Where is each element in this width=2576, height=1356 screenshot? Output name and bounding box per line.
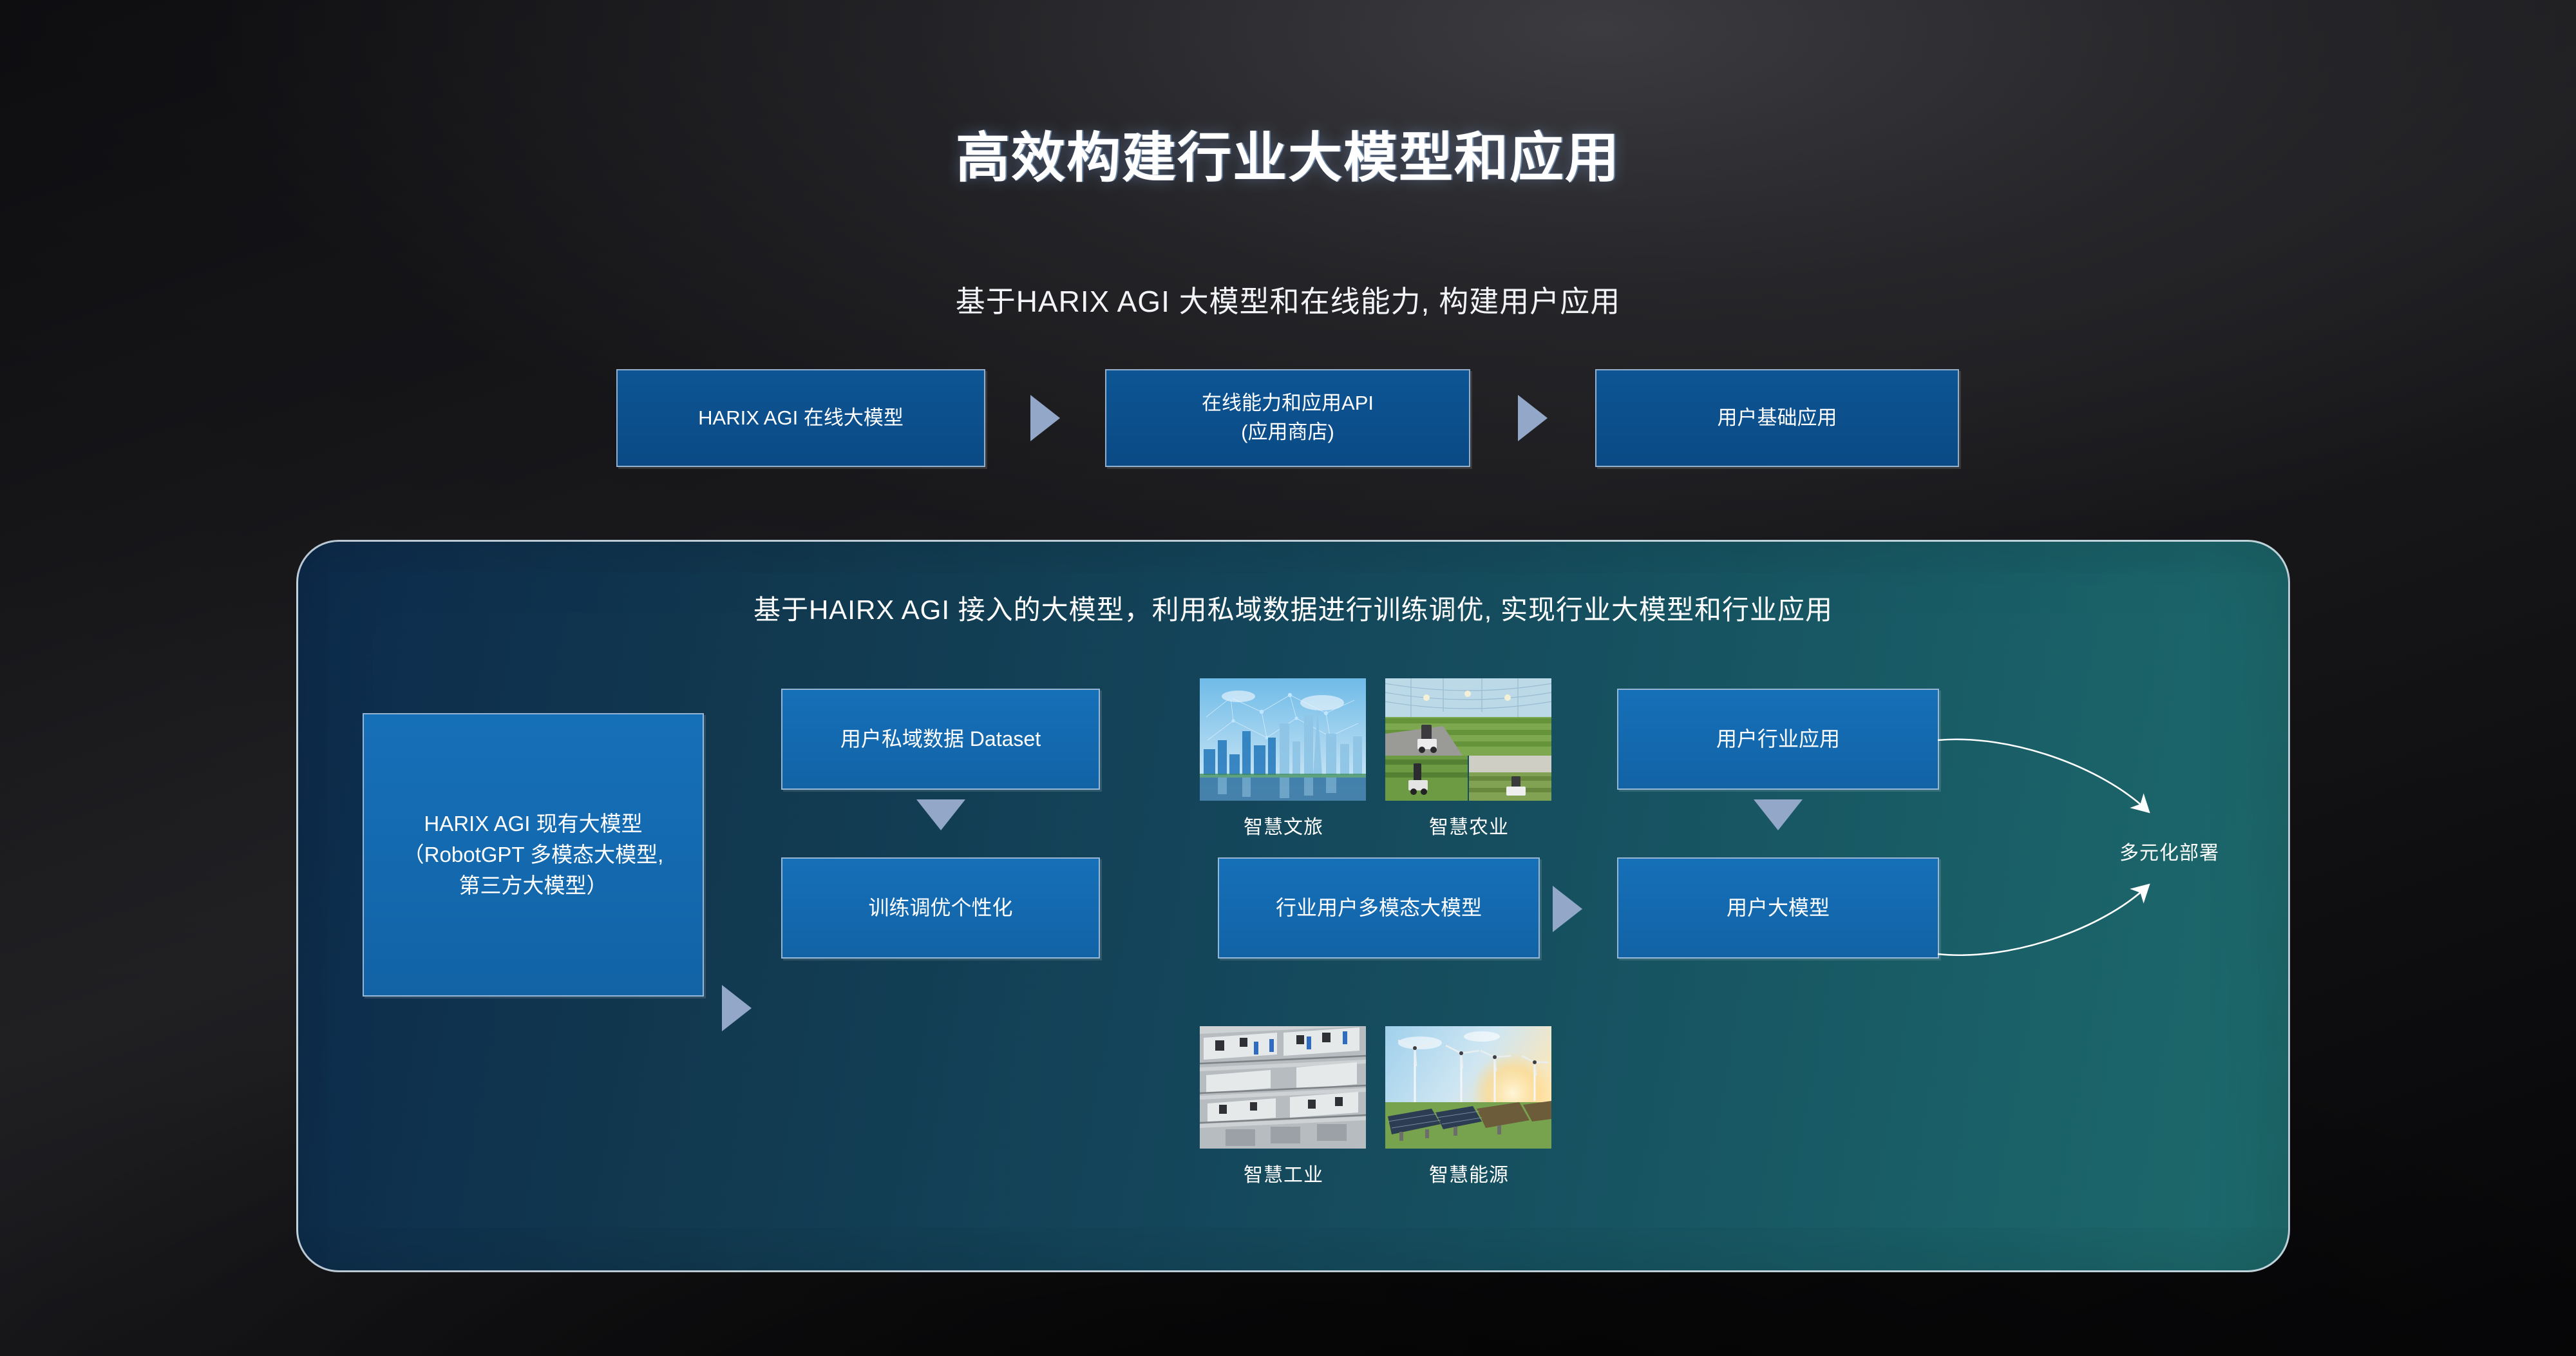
top-box-online-model[interactable]: HARIX AGI 在线大模型 — [616, 369, 985, 467]
thumbnail-caption-smart-industry: 智慧工业 — [1187, 1159, 1380, 1187]
top-box-user-base-app[interactable]: 用户基础应用 — [1595, 369, 1959, 467]
panel-box-user-app[interactable]: 用户行业应用 — [1617, 689, 1939, 790]
panel-box-user-model-label: 用户大模型 — [1727, 893, 1830, 922]
panel-box-industry-model-label: 行业用户多模态大模型 — [1276, 893, 1482, 922]
page-title: 高效构建行业大模型和应用 — [0, 115, 2576, 193]
triangle-right-icon — [1518, 395, 1548, 441]
panel-box-training[interactable]: 训练调优个性化 — [781, 857, 1100, 959]
thumbnail-caption-smart-tourism: 智慧文旅 — [1187, 811, 1380, 839]
panel-box-dataset[interactable]: 用户私域数据 Dataset — [781, 689, 1100, 790]
greenhouse-robots-image — [1385, 678, 1551, 801]
top-box-capability-api-labels: 在线能力和应用API (应用商店) — [1202, 389, 1374, 447]
panel-box-existing-model[interactable]: HARIX AGI 现有大模型 （RobotGPT 多模态大模型, 第三方大模型… — [363, 713, 704, 997]
deployment-label: 多元化部署 — [2119, 837, 2219, 865]
thumbnail-smart-industry[interactable] — [1200, 1026, 1366, 1149]
panel-box-user-model[interactable]: 用户大模型 — [1617, 857, 1939, 959]
triangle-right-icon — [722, 985, 752, 1031]
industrial-plant-image — [1200, 1026, 1366, 1149]
panel-box-dataset-label: 用户私域数据 Dataset — [840, 724, 1041, 754]
top-box-capability-api-line2: (应用商店) — [1241, 421, 1334, 443]
thumbnail-caption-smart-agriculture: 智慧农业 — [1372, 811, 1566, 839]
triangle-down-icon — [1754, 799, 1803, 830]
top-box-capability-api[interactable]: 在线能力和应用API (应用商店) — [1105, 369, 1470, 467]
top-box-user-base-app-label: 用户基础应用 — [1718, 404, 1837, 433]
top-box-online-model-label: HARIX AGI 在线大模型 — [698, 404, 904, 433]
panel-box-industry-model[interactable]: 行业用户多模态大模型 — [1218, 857, 1540, 959]
triangle-down-icon — [916, 799, 965, 830]
triangle-right-icon — [1553, 886, 1582, 932]
existing-model-line2: （RobotGPT 多模态大模型, — [403, 843, 664, 866]
top-box-capability-api-line1: 在线能力和应用API — [1202, 392, 1374, 414]
industry-model-panel: 基于HAIRX AGI 接入的大模型，利用私域数据进行训练调优, 实现行业大模型… — [296, 540, 2290, 1272]
existing-model-line3: 第三方大模型） — [459, 874, 607, 897]
thumbnail-smart-tourism[interactable] — [1200, 678, 1366, 801]
wind-solar-farm-image — [1385, 1026, 1551, 1149]
panel-box-training-label: 训练调优个性化 — [868, 893, 1012, 922]
panel-heading: 基于HAIRX AGI 接入的大模型，利用私域数据进行训练调优, 实现行业大模型… — [298, 588, 2288, 627]
thumbnail-smart-agriculture[interactable] — [1385, 678, 1551, 801]
thumbnail-smart-energy[interactable] — [1385, 1026, 1551, 1149]
thumbnail-caption-smart-energy: 智慧能源 — [1372, 1159, 1566, 1187]
page-subtitle: 基于HARIX AGI 大模型和在线能力, 构建用户应用 — [0, 278, 2576, 321]
triangle-right-icon — [1030, 395, 1060, 441]
panel-box-existing-model-labels: HARIX AGI 现有大模型 （RobotGPT 多模态大模型, 第三方大模型… — [403, 808, 664, 901]
smart-city-network-image — [1200, 678, 1366, 801]
panel-box-user-app-label: 用户行业应用 — [1716, 724, 1840, 754]
existing-model-line1: HARIX AGI 现有大模型 — [424, 812, 642, 836]
